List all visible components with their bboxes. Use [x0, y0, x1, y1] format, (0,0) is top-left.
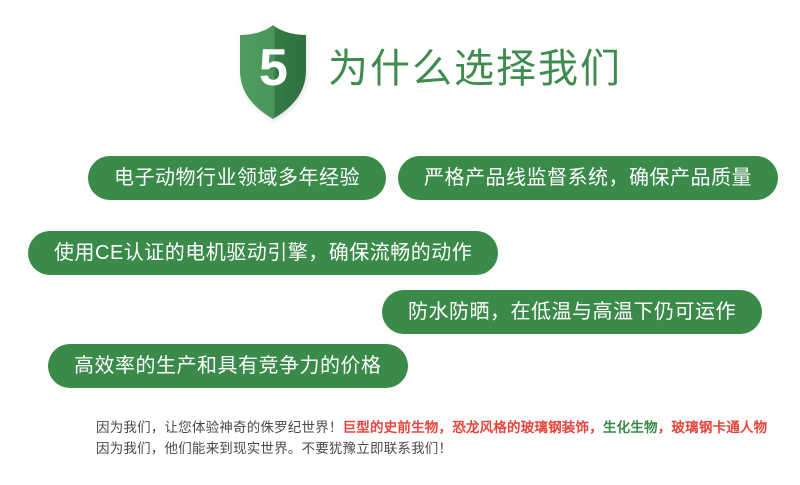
header-inner: 5 为什么选择我们 — [237, 24, 622, 120]
footer-highlight-c: ，玻璃钢卡通人物 — [658, 420, 768, 435]
feature-pill-1: 电子动物行业领域多年经验 — [88, 156, 386, 200]
feature-pill-4: 防水防晒，在低温与高温下仍可运作 — [382, 290, 762, 334]
page-title: 为什么选择我们 — [328, 49, 622, 95]
shield-icon: 5 — [237, 24, 309, 120]
footer-line-1: 因为我们，让您体验神奇的侏罗纪世界！巨型的史前生物，恐龙风格的玻璃钢装饰，生化生… — [96, 417, 796, 438]
footer-lead-text: 因为我们，让您体验神奇的侏罗纪世界！ — [96, 420, 343, 435]
feature-pill-2: 严格产品线监督系统，确保产品质量 — [398, 156, 778, 200]
feature-pill-3: 使用CE认证的电机驱动引擎，确保流畅的动作 — [28, 231, 498, 275]
footer-highlight-b: 生化生物 — [603, 420, 658, 435]
page-header: 5 为什么选择我们 — [0, 0, 800, 140]
badge-number: 5 — [237, 24, 309, 120]
feature-pill-5: 高效率的生产和具有竞争力的价格 — [48, 344, 408, 388]
footer-highlight-a: 巨型的史前生物，恐龙风格的玻璃钢装饰， — [343, 420, 603, 435]
footer-paragraph: 因为我们，让您体验神奇的侏罗纪世界！巨型的史前生物，恐龙风格的玻璃钢装饰，生化生… — [96, 417, 796, 459]
footer-line-2: 因为我们，他们能来到现实世界。不要犹豫立即联系我们！ — [96, 438, 796, 459]
